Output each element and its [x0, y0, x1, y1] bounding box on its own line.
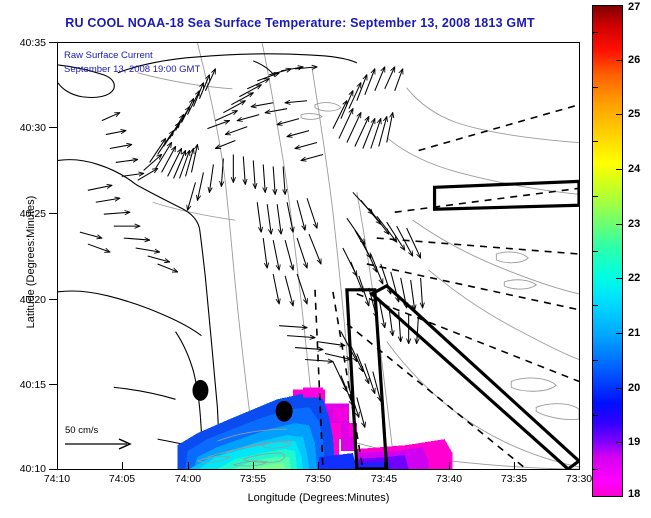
x-tick [253, 462, 254, 470]
x-tick-label: 73:35 [501, 473, 527, 485]
x-tick-label: 73:50 [305, 473, 331, 485]
vector-scale-key: 50 cm/s [61, 425, 139, 457]
y-tick [49, 213, 57, 214]
x-tick [57, 462, 58, 470]
annotation-line-1: Raw Surface Current [64, 49, 200, 63]
colorbar-tick-label: 20 [628, 382, 640, 394]
colorbar-tick [592, 141, 598, 142]
colorbar-tick [592, 251, 598, 252]
y-tick-label: 40:30 [2, 122, 46, 134]
x-tick-label: 74:05 [109, 473, 135, 485]
colorbar-tick [592, 196, 598, 197]
vector-scale-label: 50 cm/s [65, 425, 139, 436]
y-tick-label: 40:25 [2, 208, 46, 220]
colorbar-tick-label: 22 [628, 272, 640, 284]
y-tick [49, 384, 57, 385]
x-tick-label: 74:00 [175, 473, 201, 485]
x-tick [188, 462, 189, 470]
colorbar-tick [616, 496, 623, 497]
colorbar-tick-label: 25 [628, 108, 640, 120]
sst-field [178, 387, 453, 469]
colorbar-tick [592, 87, 598, 88]
colorbar-tick [616, 114, 623, 115]
x-tick [514, 462, 515, 470]
x-tick [318, 462, 319, 470]
y-tick [49, 42, 57, 43]
x-tick [384, 462, 385, 470]
colorbar-tick [616, 278, 623, 279]
colorbar-tick-label: 26 [628, 54, 640, 66]
x-tick-label: 73:40 [436, 473, 462, 485]
x-tick-label: 73:30 [566, 473, 592, 485]
vector-scale-arrow-icon [61, 436, 139, 452]
current-annotation: Raw Surface Current September 13, 2008 1… [64, 49, 200, 77]
y-tick-label: 40:10 [2, 463, 46, 475]
annotation-line-2: September 13, 2008 19:00 GMT [64, 63, 200, 77]
colorbar-tick [616, 442, 623, 443]
colorbar-tick [616, 169, 623, 170]
figure-title: RU COOL NOAA-18 Sea Surface Temperature:… [0, 16, 600, 30]
map-plot-area[interactable]: Raw Surface Current September 13, 2008 1… [57, 42, 580, 470]
y-tick-label: 40:15 [2, 379, 46, 391]
station-marker-1 [192, 380, 208, 401]
x-tick-label: 74:10 [44, 473, 70, 485]
colorbar-tick [592, 305, 598, 306]
sst-map-figure: RU COOL NOAA-18 Sea Surface Temperature:… [0, 0, 651, 518]
colorbar-tick [592, 32, 598, 33]
colorbar-tick-label: 19 [628, 436, 640, 448]
y-tick-label: 40:20 [2, 294, 46, 306]
x-tick-label: 73:55 [240, 473, 266, 485]
colorbar-tick [592, 469, 598, 470]
x-axis-title: Longitude (Degrees:Minutes) [57, 492, 580, 504]
x-tick [449, 462, 450, 470]
colorbar-tick-label: 21 [628, 327, 640, 339]
station-marker-2 [276, 401, 293, 422]
y-tick [49, 469, 57, 470]
map-canvas [58, 43, 579, 469]
bathymetry-contours [138, 43, 579, 469]
y-tick [49, 299, 57, 300]
colorbar-tick-label: 18 [628, 488, 640, 500]
y-tick-label: 40:35 [2, 37, 46, 49]
colorbar-tick-label: 23 [628, 218, 640, 230]
colorbar-tick [616, 5, 623, 6]
y-axis-title: Latitude (Degrees:Minutes) [25, 137, 37, 387]
x-tick [579, 462, 580, 470]
colorbar-tick [592, 415, 598, 416]
colorbar-tick-label: 24 [628, 163, 640, 175]
colorbar-tick [616, 333, 623, 334]
colorbar-tick [616, 388, 623, 389]
x-tick-label: 73:45 [371, 473, 397, 485]
colorbar-tick [616, 60, 623, 61]
y-tick [49, 127, 57, 128]
surface-current-vectors [80, 67, 423, 427]
x-tick [122, 462, 123, 470]
colorbar-tick [592, 360, 598, 361]
colorbar-tick [616, 224, 623, 225]
colorbar-tick-label: 27 [628, 1, 640, 13]
